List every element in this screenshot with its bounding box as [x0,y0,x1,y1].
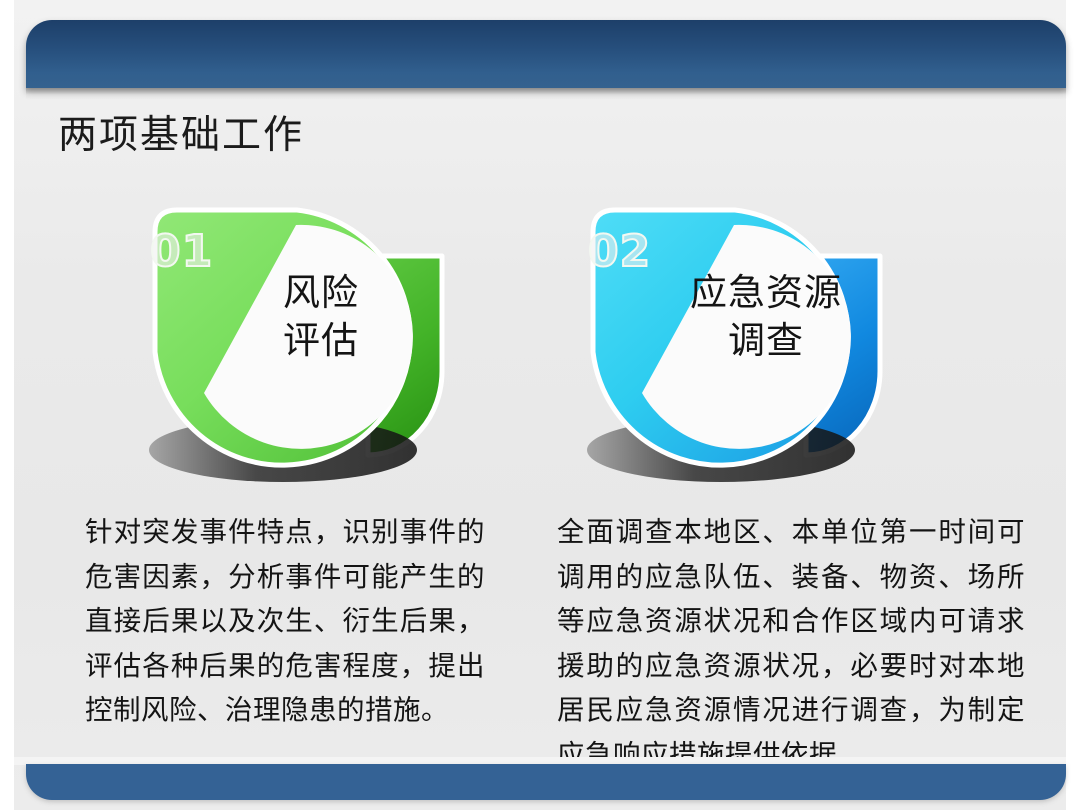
top-banner-shadow [26,88,1066,100]
bottom-banner-bar [26,764,1066,800]
card-02-front-shape [593,210,851,465]
card-01[interactable]: 01 风险 评估 [125,196,545,486]
card-02-graphic [563,196,983,486]
card-02-description: 全面调查本地区、本单位第一时间可调用的应急队伍、装备、物资、场所等应急资源状况和… [557,510,1025,777]
page-title: 两项基础工作 [58,115,304,158]
card-01-description: 针对突发事件特点，识别事件的危害因素，分析事件可能产生的直接后果以及次生、衍生后… [85,510,485,733]
presentation-slide: 两项基础工作 [0,0,1080,810]
card-01-graphic [125,196,545,486]
card-02[interactable]: 02 应急资源 调查 [563,196,983,486]
card-01-front-shape [155,210,413,465]
top-banner-bar [26,20,1066,88]
